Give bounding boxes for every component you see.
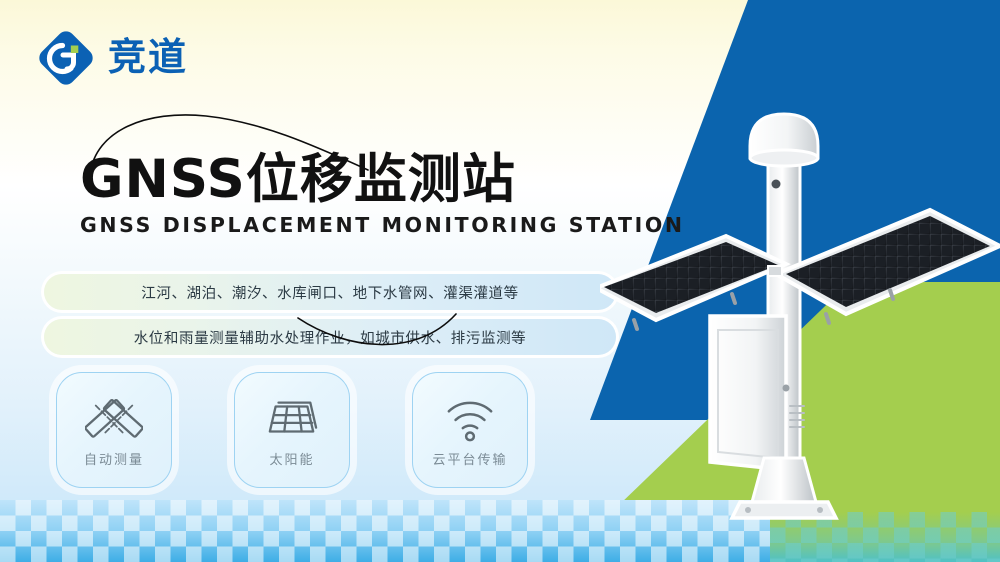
crossed-rulers-icon	[85, 393, 143, 445]
feature-card-label: 云平台传输	[432, 449, 507, 468]
jingdao-diamond-logo-icon	[36, 28, 96, 88]
feature-card-label: 自动测量	[84, 449, 144, 468]
title-block: GNSS位移监测站 GNSS DISPLACEMENT MONITORING S…	[80, 152, 640, 237]
page-subtitle: GNSS DISPLACEMENT MONITORING STATION	[80, 213, 640, 237]
page-title: GNSS位移监测站	[80, 152, 640, 207]
feature-card-solar[interactable]: 太阳能	[234, 372, 350, 488]
gnss-displacement-monitoring-station-photo	[600, 58, 1000, 528]
feature-card-auto-measurement[interactable]: 自动测量	[56, 372, 172, 488]
feature-bar-list: 江河、湖泊、潮汐、水库闸口、地下水管网、灌渠灌道等 水位和雨量测量辅助水处理作业…	[44, 274, 616, 364]
brand-name: 竞道	[108, 39, 188, 77]
wifi-signal-icon	[441, 393, 499, 445]
feature-card-label: 太阳能	[269, 449, 314, 468]
feature-bar: 江河、湖泊、潮汐、水库闸口、地下水管网、灌渠灌道等	[44, 274, 616, 310]
feature-bar: 水位和雨量测量辅助水处理作业，如城市供水、排污监测等	[44, 319, 616, 355]
product-banner: 竞道 GNSS位移监测站 GNSS DISPLACEMENT MONITORIN…	[0, 0, 1000, 562]
feature-card-cloud-transmission[interactable]: 云平台传输	[412, 372, 528, 488]
brand-logo: 竞道	[36, 28, 188, 88]
solar-panel-right	[768, 210, 1000, 323]
feature-card-list: 自动测量 太阳能	[56, 372, 528, 488]
solar-panel-icon	[263, 393, 321, 445]
gnss-dome-antenna	[750, 114, 818, 166]
